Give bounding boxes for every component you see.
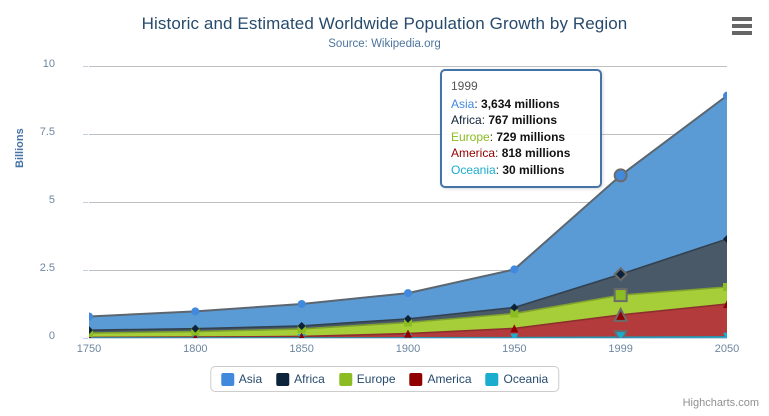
y-axis-tick-label: 2.5 [0,262,55,274]
y-axis-tick-label: 0 [0,330,55,342]
legend-label: Asia [239,372,262,386]
highcharts-container: Historic and Estimated Worldwide Populat… [0,0,769,416]
tooltip-series-name: Asia [451,97,474,111]
y-axis-tick [83,202,88,203]
y-axis-tick [83,134,88,135]
x-axis-tick-label: 2050 [697,343,757,355]
legend-label: America [428,372,472,386]
x-axis-tick-label: 1950 [484,343,544,355]
plot-area [89,66,727,338]
tooltip-series-value: 729 millions [496,130,565,144]
x-axis-tick-label: 1999 [591,343,651,355]
tooltip-series-name: America [451,146,495,160]
series-areas [89,66,727,338]
gridline [89,338,727,339]
x-axis-tick-label: 1850 [272,343,332,355]
legend-item-africa[interactable]: Africa [276,372,325,386]
y-axis-tick-label: 7.5 [0,126,55,138]
point-marker-asia[interactable] [615,169,627,181]
point-marker-oceania[interactable] [615,331,627,338]
tooltip-row: Asia: 3,634 millions [451,96,591,113]
hamburger-bar-1 [732,17,752,21]
point-marker-asia[interactable] [510,265,518,273]
legend-item-oceania[interactable]: Oceania [486,372,549,386]
point-marker-asia[interactable] [404,289,412,297]
tooltip-row: Africa: 767 millions [451,112,591,129]
tooltip-rows: Asia: 3,634 millionsAfrica: 767 millions… [451,96,591,179]
tooltip-series-value: 3,634 millions [481,97,560,111]
legend-label: Oceania [504,372,549,386]
x-axis-tick-label: 1900 [378,343,438,355]
legend-item-asia[interactable]: Asia [221,372,262,386]
point-marker-europe[interactable] [723,283,727,291]
tooltip-series-name: Oceania [451,163,496,177]
tooltip-row: Europe: 729 millions [451,129,591,146]
point-marker-asia[interactable] [191,307,199,315]
tooltip-series-value: 30 millions [502,163,564,177]
tooltip-separator: : [474,97,481,111]
credits-label: Highcharts.com [683,397,759,409]
y-axis-tick [83,338,88,339]
legend-item-europe[interactable]: Europe [339,372,396,386]
y-axis-tick [83,270,88,271]
tooltip-series-name: Africa [451,113,482,127]
tooltip-separator: : [495,146,502,160]
chart-subtitle: Source: Wikipedia.org [0,38,769,50]
chart-title: Historic and Estimated Worldwide Populat… [0,14,769,34]
hamburger-bar-2 [732,24,752,28]
legend-label: Europe [357,372,396,386]
tooltip-row: America: 818 millions [451,145,591,162]
y-axis-tick-label: 10 [0,58,55,70]
legend-item-america[interactable]: America [410,372,472,386]
legend-swatch-icon [221,373,234,386]
x-axis-tick-label: 1750 [59,343,119,355]
hamburger-bar-3 [732,31,752,35]
y-axis-tick [83,66,88,67]
point-marker-asia[interactable] [298,300,306,308]
tooltip-header: 1999 [451,78,591,96]
tooltip: 1999 Asia: 3,634 millionsAfrica: 767 mil… [440,69,602,188]
tooltip-series-value: 818 millions [502,146,571,160]
hamburger-icon[interactable] [729,15,755,37]
x-axis-tick-label: 1800 [165,343,225,355]
tooltip-row: Oceania: 30 millions [451,162,591,179]
legend-swatch-icon [410,373,423,386]
legend-swatch-icon [276,373,289,386]
y-axis-tick-label: 5 [0,194,55,206]
legend-swatch-icon [339,373,352,386]
tooltip-series-name: Europe [451,130,490,144]
legend-label: Africa [294,372,325,386]
point-marker-europe[interactable] [615,289,627,301]
legend-swatch-icon [486,373,499,386]
tooltip-series-value: 767 millions [488,113,557,127]
legend: AsiaAfricaEuropeAmericaOceania [210,366,559,392]
